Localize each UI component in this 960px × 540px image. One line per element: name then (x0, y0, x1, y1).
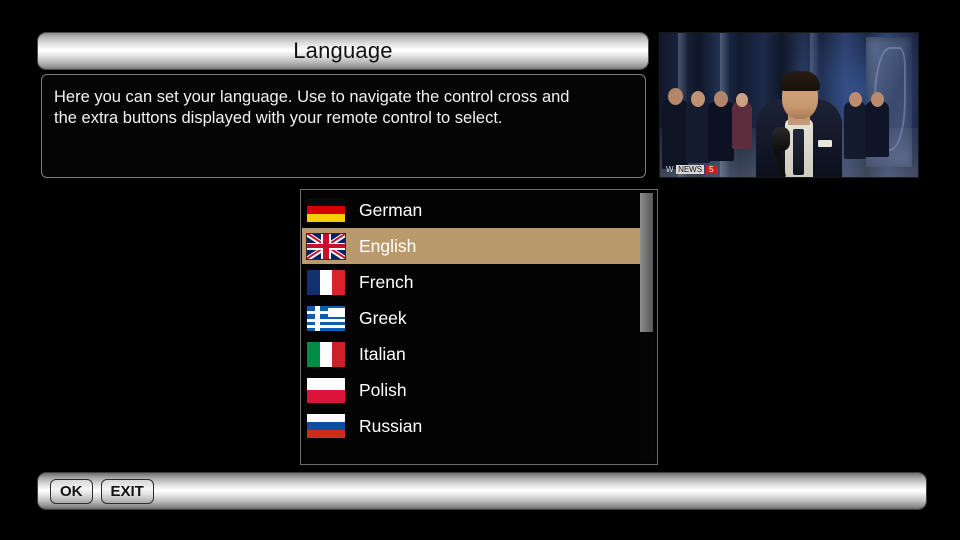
video-crowd-figure (662, 99, 688, 169)
flag-germany-icon (307, 198, 345, 223)
list-item-russian[interactable]: Russian (302, 408, 642, 444)
help-description-box: Here you can set your language. Use to n… (41, 74, 646, 178)
list-item-label: Italian (359, 344, 406, 365)
video-reporter-pocket-square (818, 140, 832, 147)
list-item-greek[interactable]: Greek (302, 300, 642, 336)
list-scrollbar-track[interactable] (640, 193, 653, 461)
flag-france-icon (307, 270, 345, 295)
tv-settings-screen: Language Here you can set your language.… (0, 0, 960, 540)
title-bar: Language (38, 33, 648, 69)
video-preview-image: W NEWS 5 (660, 33, 918, 177)
video-preview-panel[interactable]: W NEWS 5 (659, 32, 919, 178)
video-crowd-head (714, 91, 728, 107)
list-item-label: English (359, 236, 416, 257)
exit-button[interactable]: EXIT (101, 479, 154, 504)
help-line-2: the extra buttons displayed with your re… (54, 108, 633, 129)
list-item-label: German (359, 200, 422, 221)
list-item-italian[interactable]: Italian (302, 336, 642, 372)
video-crowd-head (849, 92, 862, 107)
channel-logo-bug: W NEWS 5 (666, 165, 717, 174)
flag-italy-icon (307, 342, 345, 367)
list-item-french[interactable]: French (302, 264, 642, 300)
list-item-german[interactable]: German (302, 192, 642, 228)
ok-button[interactable]: OK (50, 479, 93, 504)
list-item-label: Russian (359, 416, 422, 437)
list-scrollbar-thumb[interactable] (640, 193, 653, 332)
video-crowd-figure (865, 101, 889, 157)
exit-button-label: EXIT (111, 483, 144, 500)
list-item-english[interactable]: English (302, 228, 642, 264)
help-line-1: Here you can set your language. Use to n… (54, 87, 633, 108)
channel-bug-prefix: W (666, 165, 674, 174)
page-title: Language (293, 38, 392, 64)
language-list-panel[interactable]: German English French (300, 189, 658, 465)
flag-poland-icon (307, 378, 345, 403)
flag-united-kingdom-icon (307, 234, 345, 259)
footer-bar: OK EXIT (38, 473, 926, 509)
list-item-label: Greek (359, 308, 407, 329)
video-crowd-figure (686, 101, 710, 163)
video-crowd-figure (732, 101, 752, 149)
language-list: German English French (302, 192, 642, 444)
video-reporter-hair (780, 71, 820, 91)
list-item-polish[interactable]: Polish (302, 372, 642, 408)
channel-bug-number: 5 (706, 165, 716, 174)
video-crowd-head (871, 92, 884, 107)
flag-russia-icon (307, 414, 345, 439)
video-crowd-figure (708, 101, 734, 161)
flag-greece-icon (307, 306, 345, 331)
list-item-label: Polish (359, 380, 407, 401)
ok-button-label: OK (60, 483, 83, 500)
video-crowd-head (668, 88, 683, 105)
list-item-label: French (359, 272, 413, 293)
channel-bug-label: NEWS (676, 165, 704, 174)
video-reporter-tie (793, 129, 804, 175)
video-microphone-head (772, 127, 790, 151)
video-crowd-head (736, 93, 748, 107)
video-crowd-head (691, 91, 705, 107)
video-crowd-figure (844, 101, 866, 159)
